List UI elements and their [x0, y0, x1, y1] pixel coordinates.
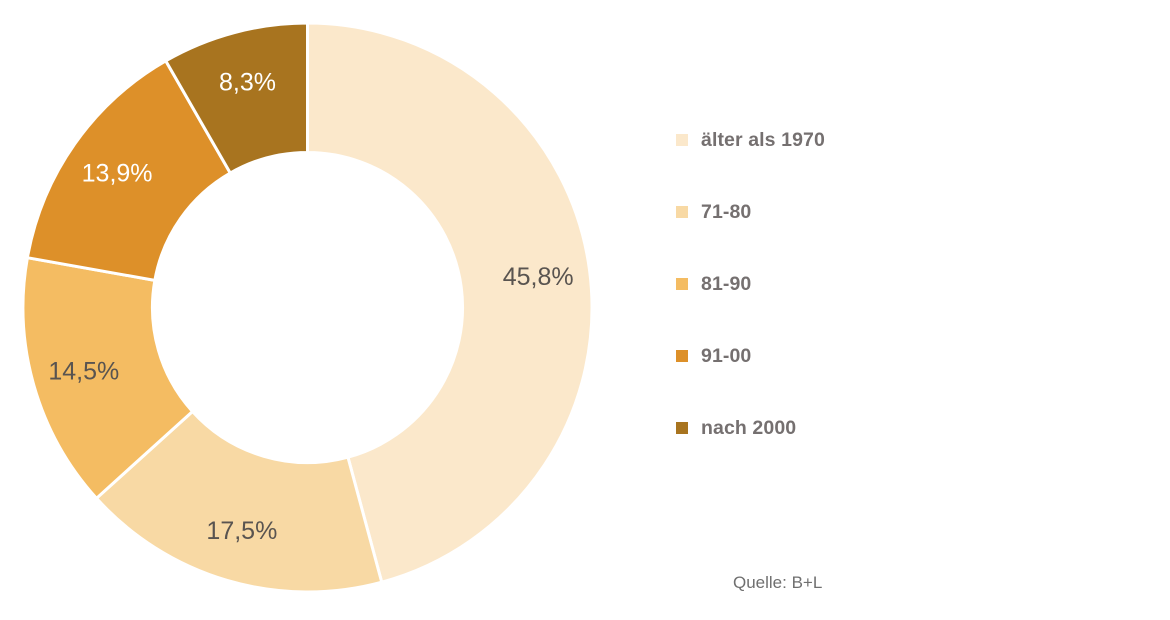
donut-chart: 45,8%17,5%14,5%13,9%8,3%: [0, 0, 640, 620]
legend-swatch-icon: [676, 422, 688, 434]
donut-slice-value-label: 14,5%: [48, 358, 119, 386]
donut-slice-value-label: 45,8%: [503, 263, 574, 291]
legend-item-label: 81-90: [701, 273, 751, 296]
legend-item-label: älter als 1970: [701, 129, 825, 152]
donut-slice-value-label: 8,3%: [219, 69, 276, 97]
source-note: Quelle: B+L: [733, 573, 822, 593]
donut-chart-svg: 45,8%17,5%14,5%13,9%8,3%: [0, 0, 640, 620]
legend-item-81-90[interactable]: 81-90: [676, 248, 1006, 320]
legend-swatch-icon: [676, 206, 688, 218]
donut-slice-value-label: 17,5%: [206, 517, 277, 545]
legend-item-71-80[interactable]: 71-80: [676, 176, 1006, 248]
donut-slice-value-label: 13,9%: [82, 160, 153, 188]
legend-swatch-icon: [676, 350, 688, 362]
legend-swatch-icon: [676, 278, 688, 290]
legend-item-label: 91-00: [701, 345, 751, 368]
legend-swatch-icon: [676, 134, 688, 146]
legend-item-aelter-als-1970[interactable]: älter als 1970: [676, 104, 1006, 176]
donut-slices: [23, 23, 592, 592]
legend-item-nach-2000[interactable]: nach 2000: [676, 392, 1006, 464]
chart-legend: älter als 1970 71-80 81-90 91-00 nach 20…: [676, 104, 1006, 464]
legend-item-label: 71-80: [701, 201, 751, 224]
legend-item-91-00[interactable]: 91-00: [676, 320, 1006, 392]
legend-item-label: nach 2000: [701, 417, 796, 440]
